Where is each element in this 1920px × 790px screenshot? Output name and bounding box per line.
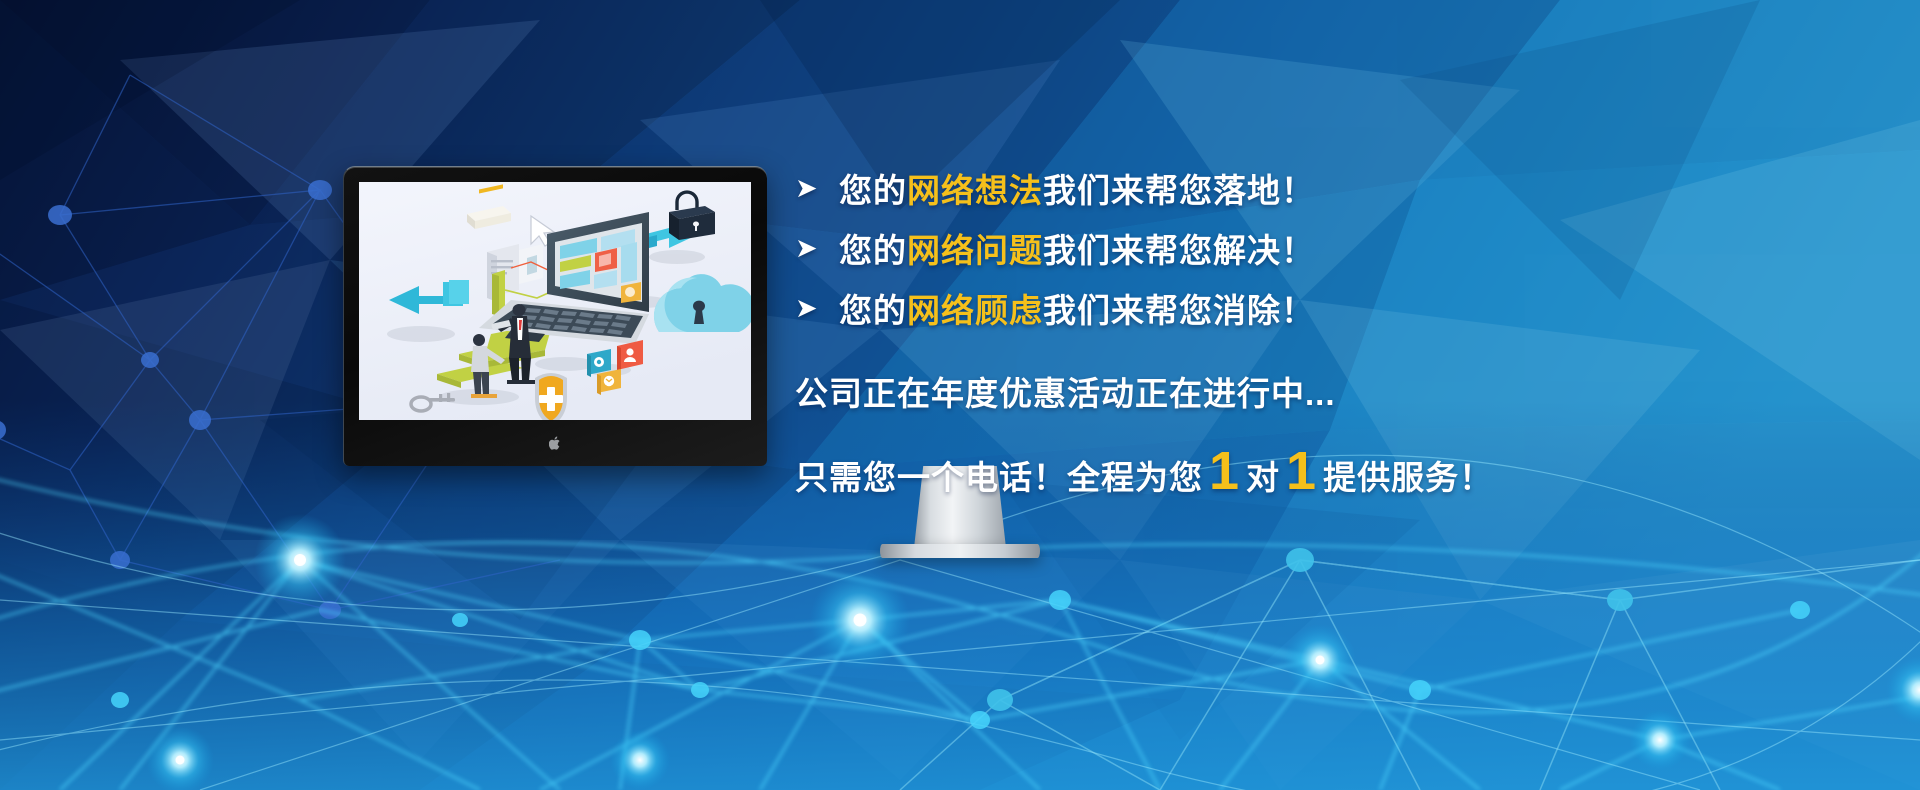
hero-banner: ➤ 您的网络想法我们来帮您落地！ ➤ 您的网络问题我们来帮您解决！ ➤ 您的网络… (0, 0, 1920, 790)
copy-block: ➤ 您的网络想法我们来帮您落地！ ➤ 您的网络问题我们来帮您解决！ ➤ 您的网络… (795, 158, 1795, 499)
cta-lead: 只需您一个电话！全程为您 (795, 451, 1203, 499)
arrow-bullet-icon: ➤ (795, 175, 839, 202)
bullet-suffix-1: 我们来帮您落地！ (1043, 172, 1315, 209)
monitor-screen (359, 182, 751, 420)
shield-plus-icon (535, 373, 567, 420)
cta-middle: 对 (1246, 451, 1280, 499)
bullet-suffix-3: 我们来帮您消除！ (1043, 292, 1315, 329)
bullet-prefix-2: 您的 (839, 232, 907, 269)
bullet-text-1: 您的网络想法我们来帮您落地！ (839, 164, 1315, 212)
bullet-row-1: ➤ 您的网络想法我们来帮您落地！ (795, 158, 1795, 218)
cta-number-second: 1 (1280, 447, 1323, 496)
monitor-stand-base (880, 544, 1040, 558)
promo-line: 公司正在年度优惠活动正在进行中... (795, 367, 1795, 415)
cta-line: 只需您一个电话！全程为您 1 对 1 提供服务！ (795, 447, 1795, 499)
bullet-suffix-2: 我们来帮您解决！ (1043, 232, 1315, 269)
cta-number-first: 1 (1203, 447, 1246, 496)
apple-logo (549, 436, 562, 451)
bullet-prefix-1: 您的 (839, 172, 907, 209)
monitor-illustration (343, 166, 767, 466)
bullet-highlight-1: 网络想法 (907, 172, 1043, 209)
bullet-highlight-2: 网络问题 (907, 232, 1043, 269)
monitor-chin (343, 420, 767, 466)
arrow-bullet-icon: ➤ (795, 295, 839, 322)
bullet-prefix-3: 您的 (839, 292, 907, 329)
bullet-highlight-3: 网络顾虑 (907, 292, 1043, 329)
bullet-text-2: 您的网络问题我们来帮您解决！ (839, 224, 1315, 272)
cta-tail: 提供服务！ (1323, 451, 1493, 499)
arrow-bullet-icon: ➤ (795, 235, 839, 262)
bullet-text-3: 您的网络顾虑我们来帮您消除！ (839, 284, 1315, 332)
bullet-row-2: ➤ 您的网络问题我们来帮您解决！ (795, 218, 1795, 278)
bullet-row-3: ➤ 您的网络顾虑我们来帮您消除！ (795, 278, 1795, 338)
